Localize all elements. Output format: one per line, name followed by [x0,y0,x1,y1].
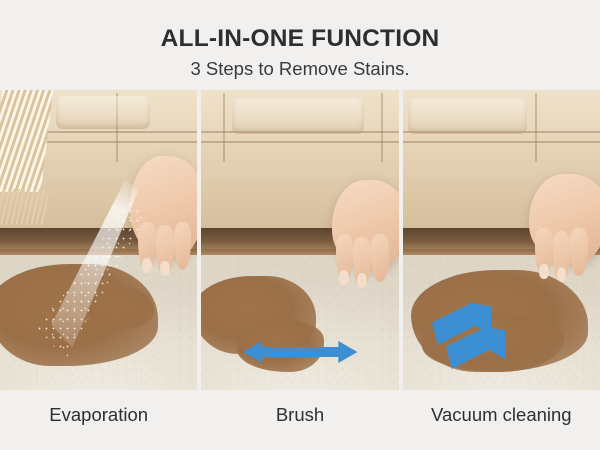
caption-evaporation: Evaporation [0,390,197,450]
step-panel-brush [201,90,398,390]
step-captions: Evaporation Brush Vacuum cleaning [0,390,600,450]
throw-blanket-fringe [0,189,50,225]
step-panel-evaporation [0,90,197,390]
step-panels [0,90,600,390]
header: ALL-IN-ONE FUNCTION 3 Steps to Remove St… [0,0,600,90]
page-title: ALL-IN-ONE FUNCTION [0,0,600,52]
double-arrow-horizontal-icon [243,341,357,363]
suction-arrow-icon [446,327,505,369]
step-panel-vacuum-cleaning [403,90,600,390]
page-subtitle: 3 Steps to Remove Stains. [0,52,600,78]
caption-vacuum-cleaning: Vacuum cleaning [403,390,600,450]
caption-brush: Brush [201,390,398,450]
